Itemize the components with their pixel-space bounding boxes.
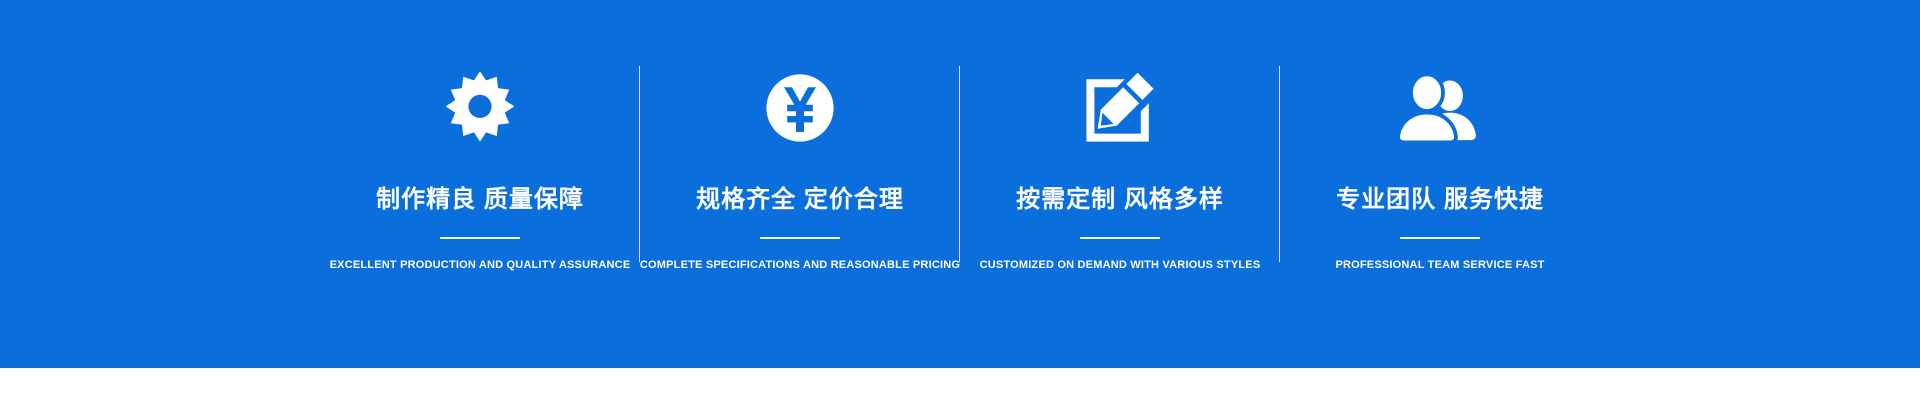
feature-title: 规格齐全 定价合理: [696, 186, 904, 215]
edit-pencil-icon: [1078, 66, 1162, 150]
bottom-white-strip: [0, 368, 1920, 401]
feature-item-pricing[interactable]: 规格齐全 定价合理 COMPLETE SPECIFICATIONS AND RE…: [640, 0, 960, 368]
feature-title: 按需定制 风格多样: [1016, 186, 1224, 215]
feature-subtitle: EXCELLENT PRODUCTION AND QUALITY ASSURAN…: [330, 259, 631, 271]
feature-item-quality[interactable]: 制作精良 质量保障 EXCELLENT PRODUCTION AND QUALI…: [320, 0, 640, 368]
feature-list: 制作精良 质量保障 EXCELLENT PRODUCTION AND QUALI…: [0, 0, 1920, 368]
feature-rule: [1400, 237, 1480, 239]
yen-coin-icon: [758, 66, 842, 150]
gear-icon: [438, 66, 522, 150]
feature-rule: [440, 237, 520, 239]
feature-title: 制作精良 质量保障: [376, 186, 584, 215]
users-team-icon: [1398, 66, 1482, 150]
feature-rule: [1080, 237, 1160, 239]
feature-title: 专业团队 服务快捷: [1336, 186, 1544, 215]
feature-subtitle: CUSTOMIZED ON DEMAND WITH VARIOUS STYLES: [980, 259, 1261, 271]
feature-subtitle: PROFESSIONAL TEAM SERVICE FAST: [1335, 259, 1544, 271]
feature-item-team[interactable]: 专业团队 服务快捷 PROFESSIONAL TEAM SERVICE FAST: [1280, 0, 1600, 368]
feature-item-customization[interactable]: 按需定制 风格多样 CUSTOMIZED ON DEMAND WITH VARI…: [960, 0, 1280, 368]
feature-banner: 制作精良 质量保障 EXCELLENT PRODUCTION AND QUALI…: [0, 0, 1920, 368]
feature-subtitle: COMPLETE SPECIFICATIONS AND REASONABLE P…: [640, 259, 960, 271]
feature-rule: [760, 237, 840, 239]
